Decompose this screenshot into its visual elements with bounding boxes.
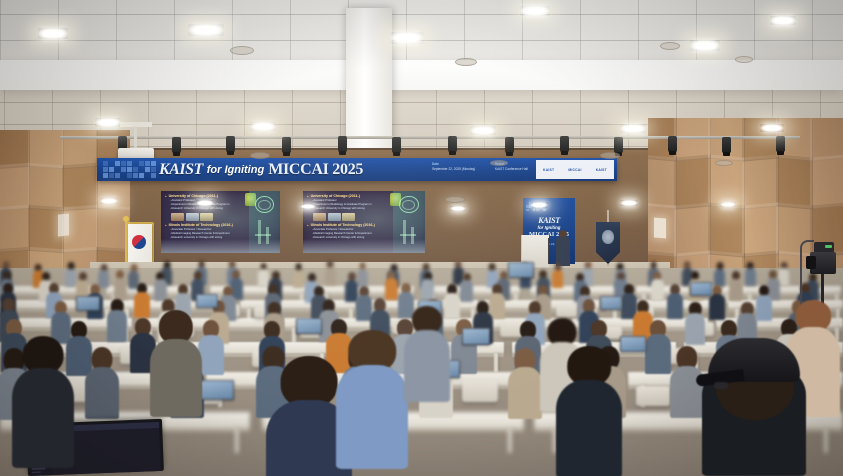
desk-leg <box>508 428 512 453</box>
ceiling-tile-line <box>0 14 843 15</box>
light-lens <box>200 202 211 205</box>
banner-dot <box>103 173 108 178</box>
banner-logo-2: MICCAI <box>568 168 581 172</box>
banner-dot <box>115 173 120 178</box>
banner-logo-1: KAIST <box>543 168 554 172</box>
chair <box>636 386 670 406</box>
wall-light-strip <box>58 213 69 236</box>
laptop-screen <box>509 263 533 277</box>
laptop-screen <box>201 381 233 399</box>
laptop-screen <box>297 319 321 333</box>
projection-screen-right: University of Chicago (2011-) Assistant … <box>303 191 425 253</box>
banner-dot <box>121 167 126 172</box>
banner-for-igniting-text: for Igniting <box>207 164 264 176</box>
ceiling-light <box>770 16 796 25</box>
foreground-attendee-blue-polo <box>336 330 408 476</box>
conference-hall-photo: KAIST for Igniting MICCAI 2025 Date Sept… <box>0 0 843 476</box>
person-torso <box>729 279 742 301</box>
audience-member <box>667 284 683 321</box>
light-lens <box>453 207 463 209</box>
banner-title: KAIST for Igniting MICCAI 2025 <box>159 160 363 179</box>
person-torso <box>404 330 450 402</box>
stage-spotlight <box>226 136 235 152</box>
code-token <box>76 438 122 440</box>
banner-dot <box>127 161 132 166</box>
ceiling-air-vent <box>250 152 270 159</box>
slide-photo <box>342 213 355 221</box>
camera-lens <box>806 256 816 269</box>
projection-screen-left: University of Chicago (2011-) Assistant … <box>161 191 280 253</box>
foreground-attendee-with-cap <box>694 320 814 476</box>
banner-venue-value: KAIST Conference Hall <box>495 167 528 172</box>
banner-date-value: September 22, 2025 (Monday) <box>432 167 475 172</box>
stage-spotlight <box>392 137 401 153</box>
wall-facet-panel <box>0 163 30 212</box>
ceiling-air-vent <box>600 152 620 159</box>
banner-dot <box>127 173 132 178</box>
light-lens <box>526 9 544 14</box>
person-torso <box>421 279 434 301</box>
screen-washout-right <box>303 239 425 253</box>
ceiling-light <box>188 24 224 36</box>
ceiling-light <box>196 200 214 206</box>
screen-washout-left <box>161 239 280 253</box>
banner-dot <box>109 173 114 178</box>
code-token <box>70 449 118 451</box>
person-torso <box>357 269 368 287</box>
person-torso <box>460 280 473 302</box>
chair <box>556 304 578 317</box>
audience-member <box>385 271 398 302</box>
laptop-screen <box>463 329 489 344</box>
person-torso <box>556 380 622 476</box>
stage-spotlight <box>338 136 347 152</box>
light-lens <box>303 205 313 207</box>
laptop[interactable] <box>462 328 490 345</box>
banner-miccai-text: MICCAI 2025 <box>268 161 363 179</box>
slide-bar-graphic <box>400 234 416 236</box>
audience-member <box>460 273 473 304</box>
light-lens <box>100 120 116 124</box>
slide-ring-graphic <box>258 200 271 211</box>
code-token <box>93 435 123 436</box>
code-token <box>74 443 102 444</box>
slide-photo <box>200 213 213 221</box>
stage-spotlight <box>668 136 677 152</box>
audience-member <box>552 263 563 289</box>
light-lens <box>775 18 791 22</box>
ceiling-light <box>620 200 638 206</box>
person-torso <box>336 365 408 469</box>
stage-spotlight <box>282 137 291 153</box>
slide-photo <box>186 213 199 221</box>
person-torso <box>12 368 74 468</box>
light-lens <box>624 202 635 205</box>
person-torso <box>651 279 664 301</box>
ceiling-air-vent <box>445 196 465 203</box>
light-lens <box>534 204 545 207</box>
banner-dot <box>139 173 144 178</box>
audience-member <box>508 348 542 424</box>
person-torso <box>325 267 336 285</box>
wall-facet-panel <box>742 154 779 209</box>
ceiling-light <box>520 6 550 16</box>
banner-dot <box>133 167 138 172</box>
person-torso <box>114 278 127 300</box>
ceiling-air-vent <box>490 160 508 166</box>
wall-facet-panel <box>648 154 677 209</box>
presenter-at-lectern <box>556 230 570 266</box>
banner-dot <box>151 173 156 178</box>
eyeglasses-temple-icon <box>714 382 728 389</box>
ceiling-light <box>100 198 118 204</box>
person-torso <box>134 292 150 318</box>
laptop[interactable] <box>196 294 218 308</box>
ceiling-light <box>470 126 496 135</box>
foreground-attendee <box>404 306 450 406</box>
wall-facet-panel <box>742 202 779 257</box>
light-lens <box>625 126 641 130</box>
banner-dot <box>103 161 108 166</box>
wall-facet-panel <box>674 154 711 209</box>
wall-facet-panel <box>62 163 98 212</box>
wall-facet-panel <box>708 202 745 257</box>
code-token <box>101 436 117 437</box>
light-lens <box>765 126 779 130</box>
audience-member <box>85 347 119 423</box>
banner-dot <box>151 167 156 172</box>
camera-record-led-icon <box>825 245 832 248</box>
light-lens <box>696 43 714 48</box>
laptop-screen <box>601 297 621 309</box>
light-lens <box>397 35 417 41</box>
audience-member <box>65 262 76 288</box>
person-torso <box>667 293 683 319</box>
person-torso <box>745 268 756 286</box>
person-torso <box>107 310 127 342</box>
person-torso <box>85 367 119 419</box>
laptop-screen <box>77 297 99 310</box>
stage-spotlight <box>560 136 569 152</box>
light-lens <box>104 200 115 203</box>
banner-dot <box>139 161 144 166</box>
slide-bar-graphic <box>255 234 271 236</box>
wall-facet-panel <box>810 154 843 209</box>
stage-spotlight <box>722 137 731 153</box>
slide-photo <box>328 213 341 221</box>
ceiling-air-vent <box>735 56 753 63</box>
stage-spotlight <box>172 137 181 153</box>
person-torso <box>508 367 542 419</box>
stage-spotlight <box>448 136 457 152</box>
laptop-screen <box>691 283 711 295</box>
laptop[interactable] <box>620 336 646 352</box>
banner-dot <box>145 167 150 172</box>
audience-member <box>729 271 742 302</box>
code-token <box>80 444 118 445</box>
stage-spotlight <box>505 137 514 153</box>
ceiling-air-vent <box>455 58 477 66</box>
ceiling-light <box>760 124 784 132</box>
code-token <box>91 432 105 433</box>
standee-dot <box>533 209 536 212</box>
chair <box>462 380 498 402</box>
banner-dot <box>115 161 120 166</box>
slide-photo <box>171 213 184 221</box>
code-token <box>108 447 124 448</box>
person-torso <box>293 270 304 288</box>
person-torso <box>778 268 789 286</box>
audience-member <box>745 262 756 288</box>
person-torso <box>756 295 772 321</box>
standee-dot <box>536 209 539 212</box>
audience-member <box>421 272 434 303</box>
ceiling-air-vent <box>660 42 680 50</box>
person-torso <box>645 334 671 374</box>
wall-facet-panel <box>776 154 813 209</box>
audience-member <box>107 299 127 345</box>
wall-facet-panel <box>28 163 64 212</box>
audience-member <box>114 270 127 301</box>
wall-light-strip <box>654 217 666 238</box>
banner-dot <box>103 167 108 172</box>
foreground-attendee <box>150 310 202 422</box>
light-lens <box>475 128 491 132</box>
slide-photo <box>313 213 326 221</box>
stage-banner: KAIST for Igniting MICCAI 2025 Date Sept… <box>97 158 617 181</box>
person-torso <box>552 270 563 288</box>
standee-dot <box>526 205 529 208</box>
ceiling-light <box>390 32 424 44</box>
projector-mount-arm <box>134 126 137 150</box>
laptop-screen <box>621 337 645 351</box>
audience-member <box>778 262 789 288</box>
laptop[interactable] <box>76 296 100 311</box>
code-token <box>72 436 92 437</box>
light-lens <box>195 27 217 33</box>
ceiling-light <box>530 202 548 208</box>
banner-date-block: Date September 22, 2025 (Monday) <box>432 162 475 172</box>
ceiling-air-vent <box>715 160 733 166</box>
code-token <box>93 440 111 441</box>
ceiling-light <box>450 206 466 211</box>
stage-spotlight <box>776 136 785 152</box>
banner-dot <box>151 161 156 166</box>
laptop[interactable] <box>690 282 712 296</box>
ceiling-light <box>300 204 316 209</box>
banner-dot <box>145 161 150 166</box>
laptop-screen <box>197 295 217 307</box>
person-torso <box>150 339 202 417</box>
code-token <box>86 448 106 449</box>
code-token <box>104 443 118 444</box>
desk-leg <box>494 353 498 372</box>
ceiling-light <box>38 28 68 39</box>
banner-dot <box>109 167 114 172</box>
audience-member <box>756 285 772 322</box>
person-torso <box>709 294 725 320</box>
foreground-attendee-dark <box>556 346 622 476</box>
audience-member <box>325 260 336 286</box>
microphone-stand <box>548 238 549 264</box>
audience-member <box>651 272 664 303</box>
banner-logo-3: KAIST <box>596 168 607 172</box>
ceiling-light <box>720 202 736 207</box>
ceiling-light <box>95 118 121 127</box>
standee-kaist-text: KAIST <box>523 216 575 225</box>
wall-facet-panel <box>674 202 711 257</box>
code-token <box>79 451 105 452</box>
ceiling-light <box>690 40 720 51</box>
ceiling-light <box>250 122 276 131</box>
desk-leg <box>235 428 239 453</box>
audience-member <box>293 263 304 289</box>
person-torso <box>65 269 76 287</box>
banner-dot <box>133 173 138 178</box>
banner-kaist-text: KAIST <box>159 161 203 179</box>
person-torso <box>385 278 398 300</box>
banner-dot <box>127 167 132 172</box>
foreground-attendee-left <box>12 336 74 474</box>
standee-dot <box>526 209 529 212</box>
wall-facet-panel <box>0 205 30 254</box>
presenter-body <box>556 237 570 266</box>
audience-member <box>134 283 150 320</box>
laptop[interactable] <box>600 296 622 310</box>
standee-dot <box>543 209 546 212</box>
ceiling-light <box>620 124 646 133</box>
audience-member <box>357 262 368 288</box>
lighting-truss <box>60 136 800 139</box>
laptop[interactable] <box>200 380 234 400</box>
taeguk-symbol-icon <box>132 235 146 249</box>
stage-spotlight <box>614 137 623 153</box>
ceiling-soffit <box>0 60 843 90</box>
desk-leg <box>824 428 828 453</box>
banner-sponsor-logos: KAIST MICCAI KAIST <box>536 160 614 179</box>
audience-member <box>645 320 671 378</box>
laptop[interactable] <box>296 318 322 334</box>
banner-dot <box>121 161 126 166</box>
light-lens <box>723 203 733 205</box>
light-lens <box>44 31 62 36</box>
ceiling-air-vent <box>230 46 254 55</box>
laptop[interactable] <box>508 262 534 278</box>
banner-dot-pattern <box>103 161 157 178</box>
ceiling-tile-line <box>0 102 843 103</box>
light-lens <box>255 124 271 128</box>
